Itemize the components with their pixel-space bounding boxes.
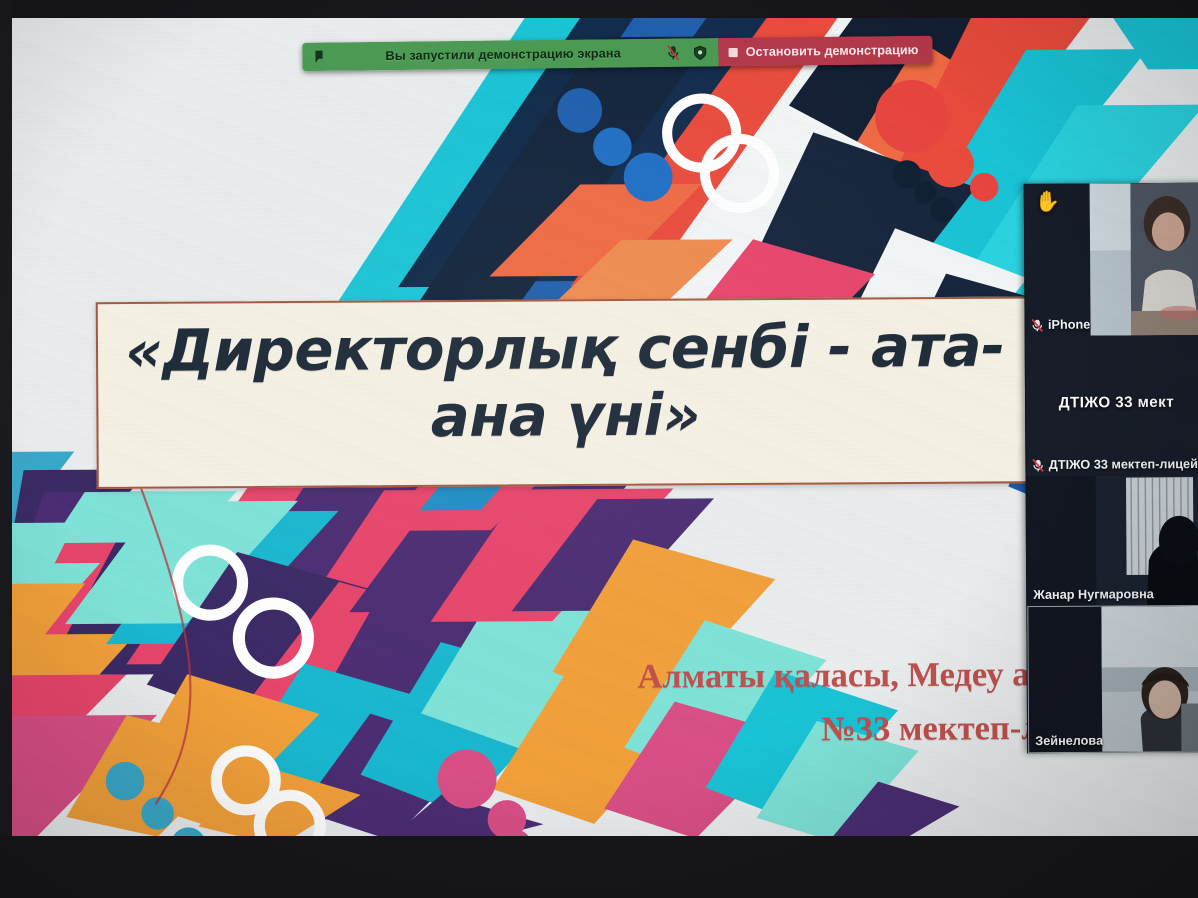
participant-name-label: ДТІЖО 33 мектеп-лицей [1049,457,1198,472]
stop-share-label: Остановить демонстрацию [746,43,919,59]
share-status-group: Вы запустили демонстрацию экрана [302,38,718,71]
stop-share-button[interactable]: Остановить демонстрацию [718,36,933,67]
microphone-muted-icon [1032,318,1043,331]
participant-video-zeinelova [1028,606,1198,752]
screen-area: «Директорлық сенбі - ата- ана үні» Алмат… [12,18,1198,840]
participant-tile-zeinelova[interactable]: Зейнелова [1027,605,1198,753]
participant-filmstrip[interactable]: ✋ iPhone ДТІЖО 33 мект [1024,183,1198,754]
security-shield-icon[interactable] [692,43,708,61]
participant-name-label: iPhone [1048,317,1090,331]
monitor-bezel-bottom [0,836,1198,898]
share-screen-icon [310,48,326,66]
participant-name-label: Жанар Нугмаровна [1033,587,1154,602]
participant-name-row: Жанар Нугмаровна [1033,587,1154,602]
participant-tile-dtizho[interactable]: ДТІЖО 33 мект ДТІЖО 33 мектеп-лицей [1026,335,1198,476]
participant-name-row: iPhone [1032,317,1091,332]
share-status-label: Вы запустили демонстрацию экрана [337,46,656,64]
participant-display-name-big: ДТІЖО 33 мект [1026,394,1198,412]
participant-name-row: Зейнелова [1035,734,1103,749]
raised-hand-icon: ✋ [1035,192,1060,212]
microphone-muted-icon [1033,458,1044,471]
participant-tile-zhanar[interactable]: Жанар Нугмаровна [1027,475,1198,606]
slide-subtitle-line-1: Алматы қаласы, Медеу ауд [390,649,1060,707]
slide-title-box: «Директорлық сенбі - ата- ана үні» [96,296,1035,488]
monitor-bezel-left [0,0,12,898]
slide-subtitle: Алматы қаласы, Медеу ауд №33 мектеп-ли [390,649,1061,760]
presentation-slide: «Директорлық сенбі - ата- ана үні» Алмат… [12,18,1198,840]
monitor-bezel-top [0,0,1198,18]
slide-subtitle-line-2: №33 мектеп-ли [390,702,1060,760]
participant-name-row: ДТІЖО 33 мектеп-лицей [1032,457,1197,472]
stop-square-icon [728,47,737,56]
monitor-photo: «Директорлық сенбі - ата- ана үні» Алмат… [0,0,1198,898]
slide-title-line-2: ана үні» [431,382,701,451]
slide-title-line-1: «Директорлық сенбі - ата- [125,313,1005,385]
participant-name-label: Зейнелова [1035,734,1103,749]
microphone-muted-icon[interactable] [665,44,681,62]
participant-tile-iphone[interactable]: ✋ iPhone [1025,183,1198,336]
